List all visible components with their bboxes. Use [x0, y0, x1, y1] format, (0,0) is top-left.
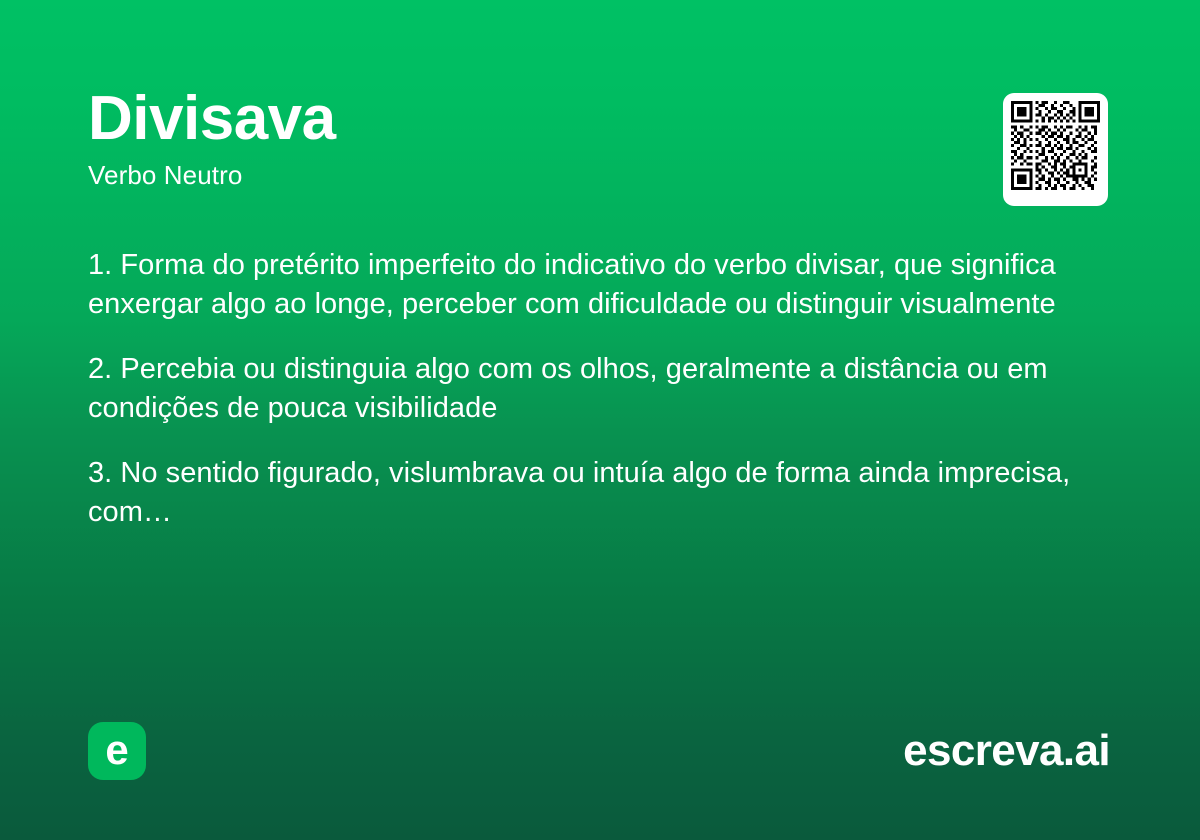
- definition-item: 2. Percebia ou distinguia algo com os ol…: [88, 350, 1078, 428]
- word-definition-card: Divisava Verbo Neutro: [0, 0, 1200, 840]
- brand-logo: e: [88, 722, 146, 780]
- definition-list: 1. Forma do pretérito imperfeito do indi…: [88, 246, 1088, 532]
- card-footer: e escreva.ai: [88, 722, 1110, 780]
- qr-code-icon: [1011, 101, 1100, 190]
- brand-logo-letter: e: [105, 729, 128, 771]
- card-header: Divisava Verbo Neutro: [88, 86, 1112, 190]
- definition-item: 1. Forma do pretérito imperfeito do indi…: [88, 246, 1078, 324]
- qr-code-card[interactable]: [1003, 93, 1108, 206]
- word-class-label: Verbo Neutro: [88, 161, 1112, 190]
- brand-wordmark: escreva.ai: [903, 729, 1110, 773]
- definition-item: 3. No sentido figurado, vislumbrava ou i…: [88, 454, 1078, 532]
- page-title: Divisava: [88, 86, 1112, 151]
